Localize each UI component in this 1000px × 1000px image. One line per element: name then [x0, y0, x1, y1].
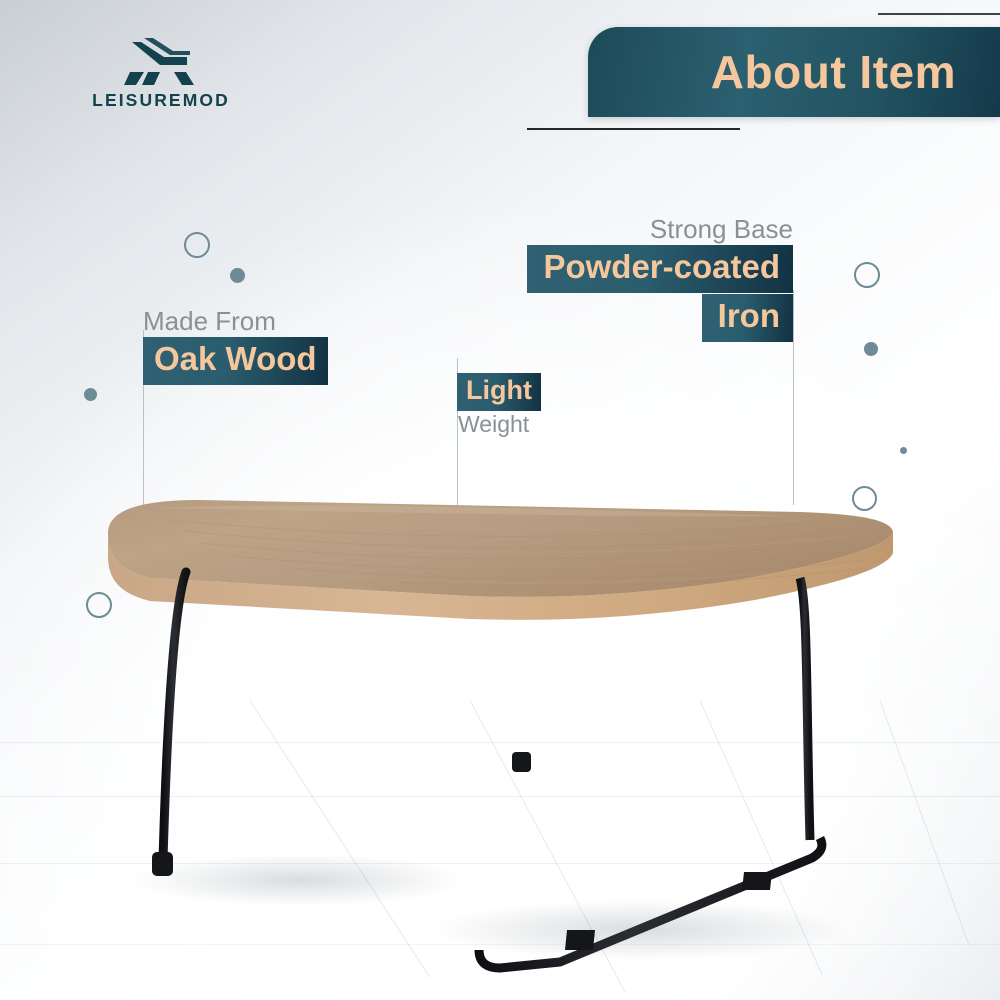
decor-dot-4 [900, 447, 907, 454]
brand-name: LEISUREMOD [76, 90, 246, 111]
callout-made-from-oak-wood: Made From Oak Wood [143, 306, 328, 385]
callout-highlight-label: Oak Wood [143, 337, 328, 385]
decor-dot-2 [84, 388, 97, 401]
decor-dot-1 [230, 268, 245, 283]
callout-sub-label: Strong Base [443, 214, 793, 245]
callout-sub-label: Weight [457, 411, 541, 438]
lounge-chair-logo-icon [124, 38, 198, 86]
infographic-canvas: About Item LEISUREMOD Made From Oak Wood… [0, 0, 1000, 1000]
decor-ring-3 [854, 262, 880, 288]
brand-logo: LEISUREMOD [76, 38, 246, 111]
callout-highlight-label: Powder-coated [527, 245, 793, 293]
callout-strong-base-iron: Strong Base Powder-coated Iron [443, 214, 793, 342]
callout-sub-label: Made From [143, 306, 328, 337]
page-title: About Item [711, 45, 956, 99]
top-right-rule [878, 13, 1000, 15]
decor-ring-4 [852, 486, 877, 511]
connector-iron [793, 290, 794, 505]
floor-tiles [0, 700, 1000, 1000]
callout-light-weight: Light Weight [457, 373, 541, 438]
header-banner: About Item [588, 27, 1000, 117]
callout-highlight-label-2: Iron [702, 294, 793, 342]
product-image-coffee-table [0, 0, 1000, 1000]
banner-underline-rule [527, 128, 740, 130]
decor-ring-2 [86, 592, 112, 618]
decor-ring-1 [184, 232, 210, 258]
decor-dot-3 [864, 342, 878, 356]
callout-highlight-label: Light [457, 373, 541, 411]
